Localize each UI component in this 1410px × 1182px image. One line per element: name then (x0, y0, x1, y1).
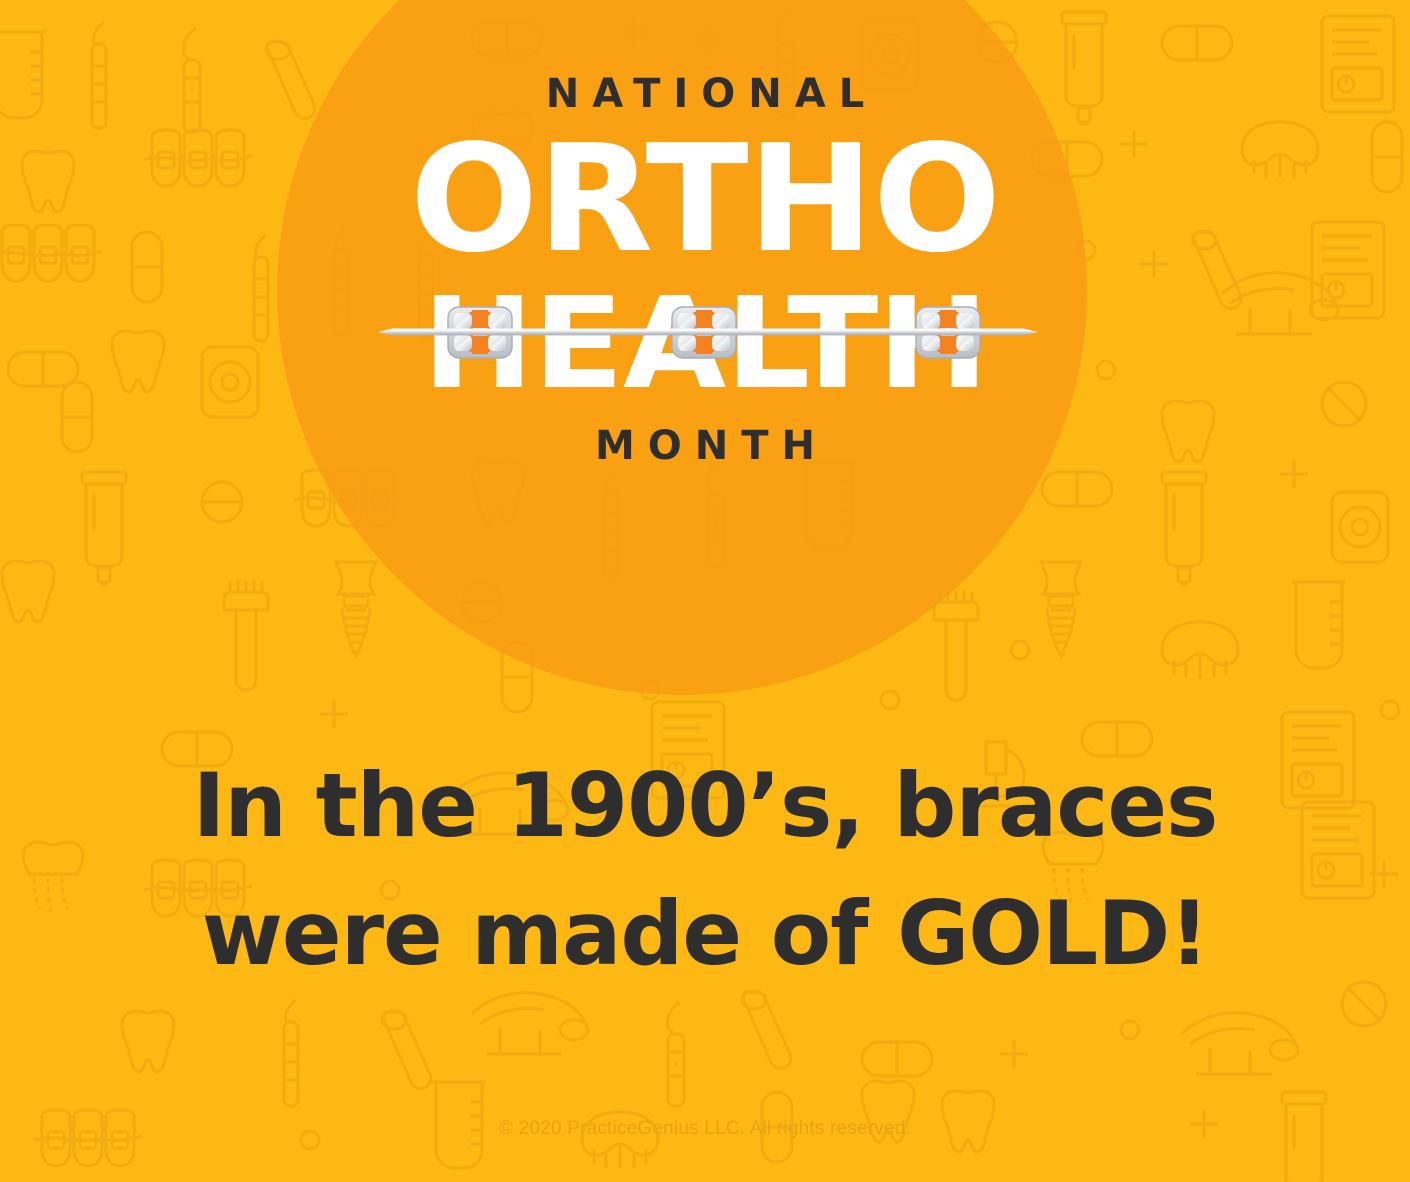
logo-word-month: MONTH (0, 426, 1410, 466)
braces-bracket-icon-1 (447, 304, 513, 360)
logo-lockup: NATIONAL ORTHO (0, 74, 1410, 466)
ortho-wordmark-row: ORTHO (0, 124, 1410, 274)
copyright-text: © 2020 PracticeGenius LLC. All rights re… (0, 1118, 1410, 1140)
logo-word-ortho: ORTHO (0, 124, 1410, 274)
logo-kicker-national: NATIONAL (0, 74, 1410, 114)
poster-canvas: NATIONAL ORTHO (0, 0, 1410, 1182)
fact-line-1: In the 1900’s, braces (90, 742, 1320, 870)
braces-bracket-icon-3 (915, 304, 981, 360)
fact-line-2: were made of GOLD! (90, 870, 1320, 998)
braces-bracket-icon-2 (671, 304, 737, 360)
footer: © 2020 PracticeGenius LLC. All rights re… (0, 1118, 1410, 1140)
fact-statement: In the 1900’s, braces were made of GOLD! (0, 742, 1410, 998)
